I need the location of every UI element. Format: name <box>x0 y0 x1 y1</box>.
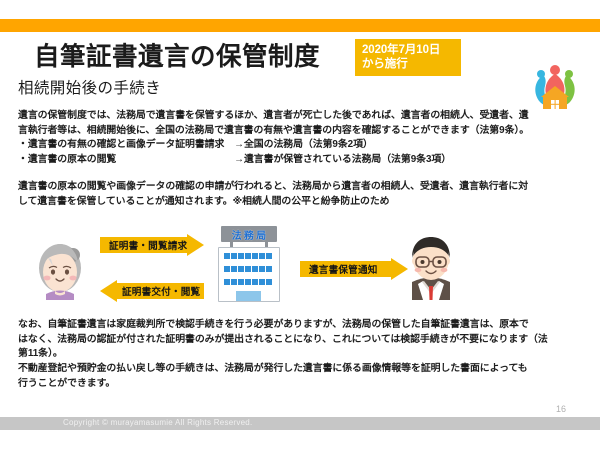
elderly-woman-illustration <box>32 238 88 300</box>
bureau-window-row <box>224 253 272 259</box>
arrow-certificate-request: 証明書・閲覧請求 <box>100 234 204 256</box>
bureau-sign-label: 法務局 <box>230 227 269 242</box>
effective-date-badge: 2020年7月10日 から施行 <box>355 39 461 76</box>
copyright-notice: Copyright © murayamasumie All Rights Res… <box>63 418 252 427</box>
bureau-facade <box>218 247 280 302</box>
paragraph-probate: なお、自筆証書遺言は家庭裁判所で検認手続きを行う必要がありますが、法務局の保管し… <box>18 318 588 362</box>
paragraph-overview: 遺言の保管制度では、法務局で遺言書を保管するほか、遺言者が死亡した後であれば、遺… <box>18 109 588 168</box>
paragraph-probate-line1: なお、自筆証書遺言は家庭裁判所で検認手続きを行う必要がありますが、法務局の保管し… <box>18 318 588 333</box>
effective-date-line1: 2020年7月10日 <box>362 44 440 56</box>
arrow-certificate-issue: 証明書交付・閲覧 <box>100 280 204 302</box>
bureau-window-row <box>224 266 272 272</box>
bureau-window-row <box>224 279 272 285</box>
paragraph-registration: 不動産登記や預貯金の払い戻し等の手続きは、法務局が発行した遺言書に係る画像情報等… <box>18 362 588 391</box>
flow-diagram: 法務局 <box>0 222 600 314</box>
paragraph-overview-line1: 遺言の保管制度では、法務局で遺言書を保管するほか、遺言者が死亡した後であれば、遺… <box>18 109 588 124</box>
effective-date-line2: から施行 <box>362 57 455 71</box>
page-title: 自筆証書遺言の保管制度 <box>34 36 320 73</box>
paragraph-probate-line2: はなく、法務局の認証が付された証明書のみが提出されることになり、これについては検… <box>18 333 588 348</box>
slide-canvas: 自筆証書遺言の保管制度 2020年7月10日 から施行 相続開始後の手続き 遺言… <box>0 0 600 450</box>
arrow-will-custody-notice: 遺言書保管通知 <box>300 258 408 280</box>
legal-bureau-building: 法務局 <box>216 226 282 306</box>
paragraph-probate-line3: 第11条）。 <box>18 347 588 362</box>
paragraph-notification-line1: 遺言書の原本の閲覧や画像データの確認の申請が行われると、法務局から遺言者の相続人… <box>18 180 588 195</box>
paragraph-notification: 遺言書の原本の閲覧や画像データの確認の申請が行われると、法務局から遺言者の相続人… <box>18 180 588 209</box>
paragraph-overview-line4: ・遺言書の原本の閲覧 →遺言書が保管されている法務局（法第9条3項） <box>18 153 588 168</box>
arrow-will-custody-notice-label: 遺言書保管通知 <box>309 262 378 276</box>
page-number: 16 <box>556 404 566 414</box>
paragraph-overview-line3: ・遺言書の有無の確認と画像データ証明書請求 →全国の法務局（法第9条2項） <box>18 138 588 153</box>
male-officer-illustration <box>404 234 458 300</box>
top-accent-bar <box>0 19 600 32</box>
page-subtitle: 相続開始後の手続き <box>18 76 161 98</box>
bureau-sign: 法務局 <box>221 226 277 242</box>
paragraph-notification-line2: して遺言書を保管していることが通知されます。※相続人間の公平と紛争防止のため <box>18 195 588 210</box>
three-people-house-logo <box>528 60 582 114</box>
bureau-entrance <box>236 291 262 301</box>
paragraph-registration-line1: 不動産登記や預貯金の払い戻し等の手続きは、法務局が発行した遺言書に係る画像情報等… <box>18 362 588 377</box>
paragraph-overview-line2: 言執行者等は、相続開始後に、全国の法務局で遺言書の有無や遺言書の内容を確認するこ… <box>18 124 588 139</box>
arrow-certificate-issue-label: 証明書交付・閲覧 <box>122 284 200 298</box>
paragraph-registration-line2: 行うことができます。 <box>18 377 588 392</box>
arrow-certificate-request-label: 証明書・閲覧請求 <box>109 238 187 252</box>
